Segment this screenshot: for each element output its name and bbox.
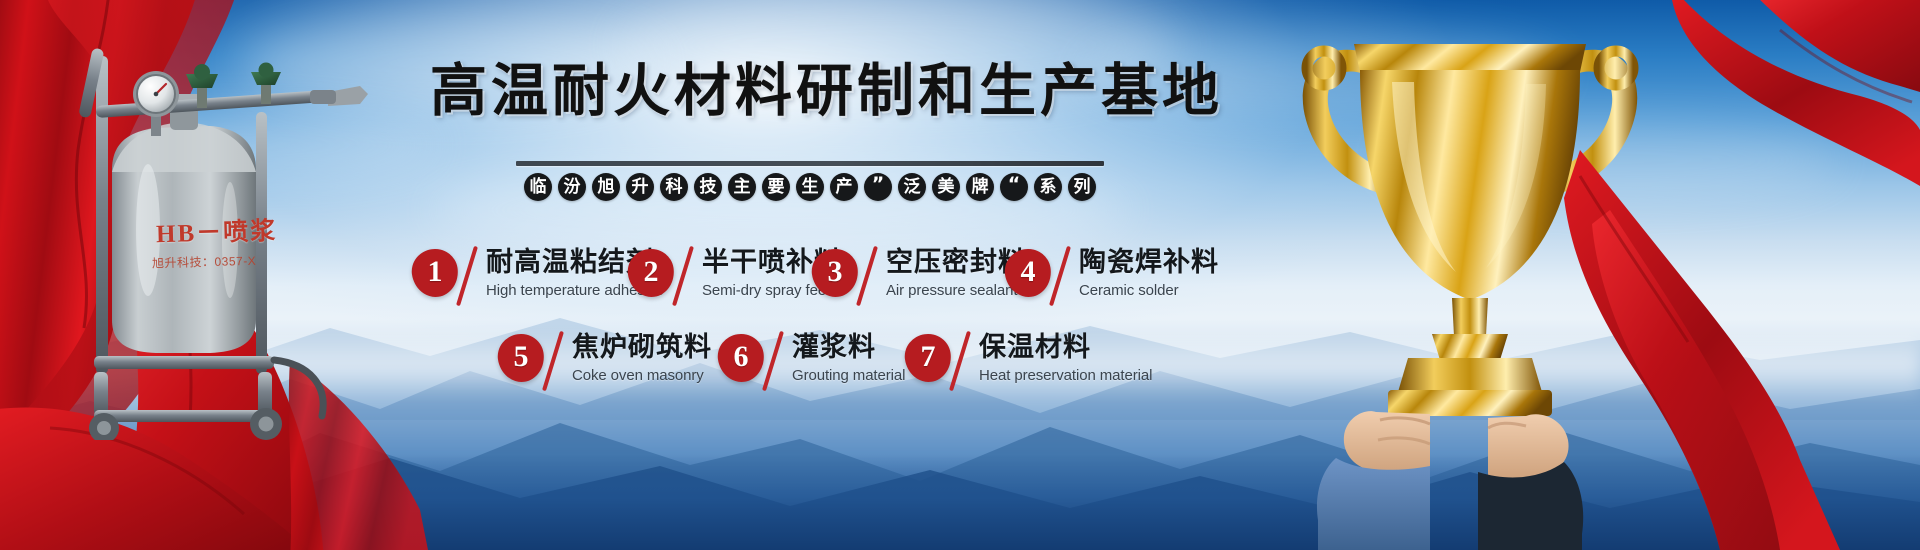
feature-title-en: Ceramic solder: [1079, 282, 1219, 299]
slash-divider-icon: [672, 248, 696, 306]
slash-divider-icon: [1049, 248, 1073, 306]
feature-number: 2: [644, 257, 659, 287]
feature-number-badge: 2: [628, 249, 674, 299]
feature-number: 1: [428, 257, 443, 287]
feature-title-cn: 陶瓷焊补料: [1079, 248, 1219, 278]
feature-text: 陶瓷焊补料 Ceramic solder: [1079, 248, 1219, 299]
feature-item-4[interactable]: 4 陶瓷焊补料 Ceramic solder: [1005, 248, 1219, 306]
feature-title-en: Heat preservation material: [979, 367, 1152, 384]
feature-number-badge: 7: [905, 334, 951, 384]
feature-text: 灌浆料 Grouting material: [792, 333, 905, 384]
feature-item-1[interactable]: 1 耐高温粘结剂 High temperature adhesive: [412, 248, 664, 306]
feature-text: 保温材料 Heat preservation material: [979, 333, 1152, 384]
slash-divider-icon: [949, 333, 973, 391]
feature-item-6[interactable]: 6 灌浆料 Grouting material: [718, 333, 905, 391]
feature-number: 3: [828, 257, 843, 287]
promo-banner: HB－喷浆 旭升科技：0357-X: [0, 0, 1920, 550]
feature-title-cn: 焦炉砌筑料: [572, 333, 712, 363]
feature-number: 6: [734, 342, 749, 372]
slash-divider-icon: [762, 333, 786, 391]
feature-number-badge: 4: [1005, 249, 1051, 299]
feature-title-cn: 保温材料: [979, 333, 1152, 363]
feature-item-2[interactable]: 2 半干喷补料 Semi-dry spray feed: [628, 248, 842, 306]
feature-title-en: Grouting material: [792, 367, 905, 384]
feature-item-7[interactable]: 7 保温材料 Heat preservation material: [905, 333, 1152, 391]
feature-list: 1 耐高温粘结剂 High temperature adhesive 2 半干喷…: [0, 0, 1920, 550]
feature-title-en: Coke oven masonry: [572, 367, 712, 384]
feature-text: 焦炉砌筑料 Coke oven masonry: [572, 333, 712, 384]
slash-divider-icon: [856, 248, 880, 306]
banner-content: 高温耐火材料研制和生产基地 临汾旭升科技主要生产”泛美牌“系列 1 耐高温粘结剂…: [0, 0, 1920, 550]
feature-number-badge: 5: [498, 334, 544, 384]
feature-item-3[interactable]: 3 空压密封料 Air pressure sealant: [812, 248, 1026, 306]
feature-number: 4: [1021, 257, 1036, 287]
feature-number: 5: [514, 342, 529, 372]
feature-number-badge: 1: [412, 249, 458, 299]
feature-number: 7: [921, 342, 936, 372]
slash-divider-icon: [456, 248, 480, 306]
feature-title-cn: 灌浆料: [792, 333, 905, 363]
feature-number-badge: 3: [812, 249, 858, 299]
feature-item-5[interactable]: 5 焦炉砌筑料 Coke oven masonry: [498, 333, 712, 391]
slash-divider-icon: [542, 333, 566, 391]
feature-number-badge: 6: [718, 334, 764, 384]
